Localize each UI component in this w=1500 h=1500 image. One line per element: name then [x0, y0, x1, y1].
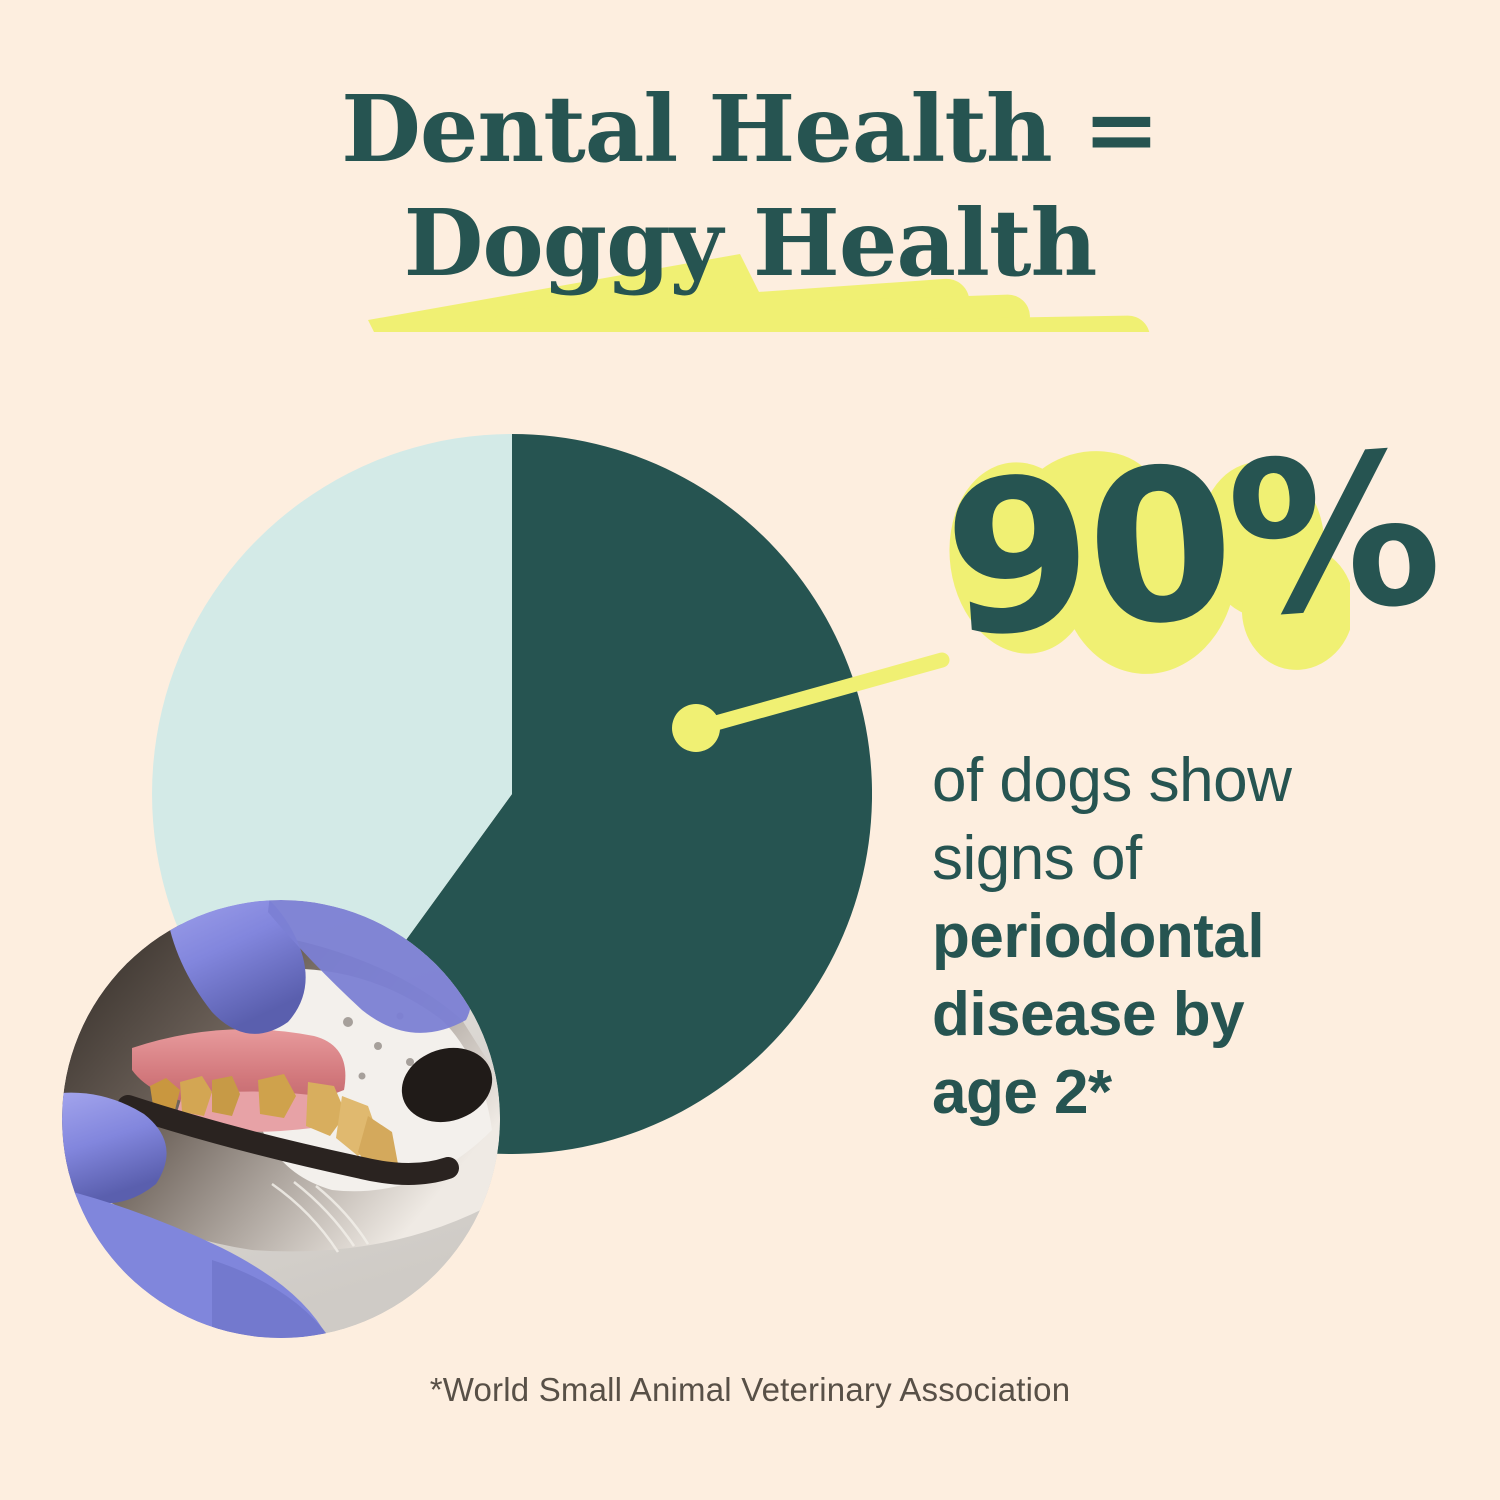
- statistic-callout: 90% of dogs show signs of periodontal di…: [910, 430, 1450, 710]
- stat-line-1: of dogs show: [932, 742, 1432, 820]
- statistic-description: of dogs show signs of periodontal diseas…: [932, 742, 1432, 1132]
- stat-line-4: disease by: [932, 976, 1432, 1054]
- pointer-line: [698, 660, 942, 728]
- page-title: Dental Health = Doggy Health: [0, 72, 1500, 300]
- stat-line-2: signs of: [932, 820, 1432, 898]
- stat-line-3: periodontal: [932, 898, 1432, 976]
- title-line-2: Doggy Health: [0, 186, 1500, 300]
- source-footnote: *World Small Animal Veterinary Associati…: [0, 1368, 1500, 1412]
- big-number-value: 90%: [938, 414, 1444, 678]
- title-line-1: Dental Health =: [0, 72, 1500, 186]
- pointer-dot: [672, 704, 720, 752]
- dog-teeth-photo-svg: [62, 900, 500, 1338]
- infographic-canvas: Dental Health = Doggy Health: [0, 0, 1500, 1500]
- big-number-group: 90%: [910, 430, 1450, 710]
- dog-teeth-photo: [62, 900, 500, 1338]
- stat-line-5: age 2*: [932, 1054, 1432, 1132]
